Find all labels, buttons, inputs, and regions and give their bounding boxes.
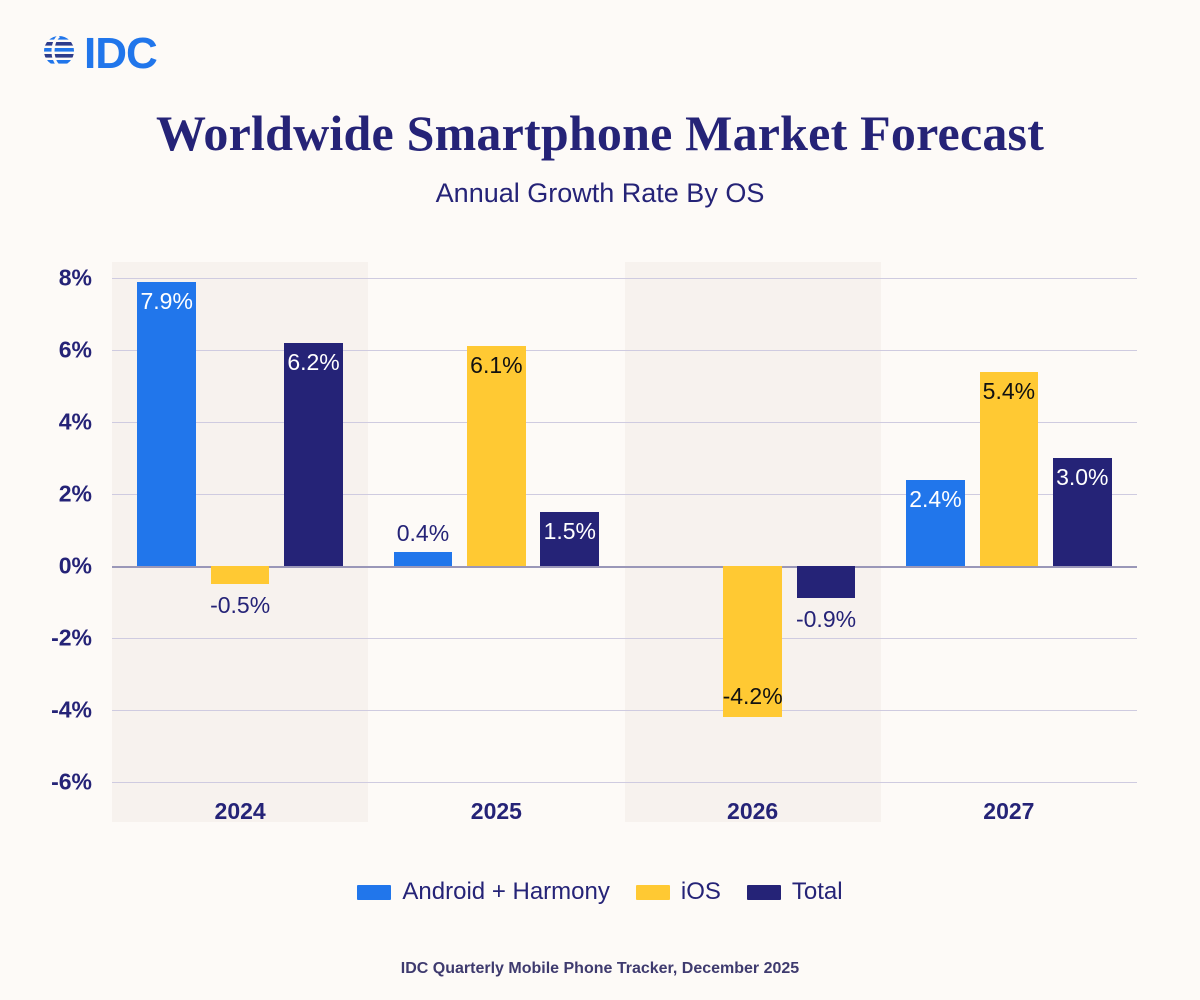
x-axis-label-2027: 2027 bbox=[881, 798, 1137, 825]
y-axis-tick: 0% bbox=[12, 553, 92, 580]
chart-legend: Android + HarmonyiOSTotal bbox=[0, 878, 1200, 906]
bar-2024-ios[interactable] bbox=[211, 566, 270, 584]
legend-swatch-icon bbox=[747, 885, 781, 900]
y-axis-tick: -2% bbox=[12, 625, 92, 652]
bar-2026-total[interactable] bbox=[797, 566, 856, 598]
bar-group-2026: -4.2%-0.9%2026 bbox=[625, 278, 881, 782]
globe-icon bbox=[38, 30, 80, 77]
bar-value-label: -0.9% bbox=[751, 606, 901, 633]
legend-label: iOS bbox=[681, 878, 721, 906]
legend-label: Total bbox=[792, 878, 843, 906]
legend-label: Android + Harmony bbox=[402, 878, 609, 906]
x-axis-label-2026: 2026 bbox=[625, 798, 881, 825]
bar-group-2027: 2.4%5.4%3.0%2027 bbox=[881, 278, 1137, 782]
legend-item[interactable]: Total bbox=[747, 878, 843, 906]
bar-group-2025: 0.4%6.1%1.5%2025 bbox=[368, 278, 624, 782]
y-axis-tick: 8% bbox=[12, 265, 92, 292]
source-note: IDC Quarterly Mobile Phone Tracker, Dece… bbox=[0, 960, 1200, 978]
legend-swatch-icon bbox=[636, 885, 670, 900]
bar-value-label: -4.2% bbox=[678, 683, 828, 710]
page-title: Worldwide Smartphone Market Forecast bbox=[0, 104, 1200, 162]
idc-wordmark: IDC bbox=[84, 32, 157, 76]
bar-value-label: 3.0% bbox=[1007, 464, 1157, 491]
plot-area: 7.9%-0.5%6.2%20240.4%6.1%1.5%2025-4.2%-0… bbox=[112, 278, 1137, 782]
bar-value-label: -0.5% bbox=[165, 592, 315, 619]
legend-swatch-icon bbox=[357, 885, 391, 900]
bar-2024-android-harmony[interactable] bbox=[137, 282, 196, 566]
y-axis-tick: 6% bbox=[12, 337, 92, 364]
y-axis-tick: -6% bbox=[12, 769, 92, 796]
idc-logo: IDC bbox=[38, 30, 157, 77]
page-subtitle: Annual Growth Rate By OS bbox=[0, 178, 1200, 209]
bar-value-label: 6.1% bbox=[421, 352, 571, 379]
bar-value-label: 6.2% bbox=[239, 349, 389, 376]
legend-item[interactable]: Android + Harmony bbox=[357, 878, 609, 906]
bar-2024-total[interactable] bbox=[284, 343, 343, 566]
bar-value-label: 5.4% bbox=[934, 378, 1084, 405]
bar-value-label: 7.9% bbox=[92, 288, 242, 315]
y-axis-tick: -4% bbox=[12, 697, 92, 724]
gridline bbox=[112, 782, 1137, 783]
y-axis-tick: 2% bbox=[12, 481, 92, 508]
bar-group-2024: 7.9%-0.5%6.2%2024 bbox=[112, 278, 368, 782]
legend-item[interactable]: iOS bbox=[636, 878, 721, 906]
bar-2025-android-harmony[interactable] bbox=[394, 552, 453, 566]
y-axis-tick: 4% bbox=[12, 409, 92, 436]
x-axis-label-2025: 2025 bbox=[368, 798, 624, 825]
x-axis-label-2024: 2024 bbox=[112, 798, 368, 825]
bar-chart: 7.9%-0.5%6.2%20240.4%6.1%1.5%2025-4.2%-0… bbox=[0, 262, 1200, 827]
bar-value-label: 1.5% bbox=[495, 518, 645, 545]
